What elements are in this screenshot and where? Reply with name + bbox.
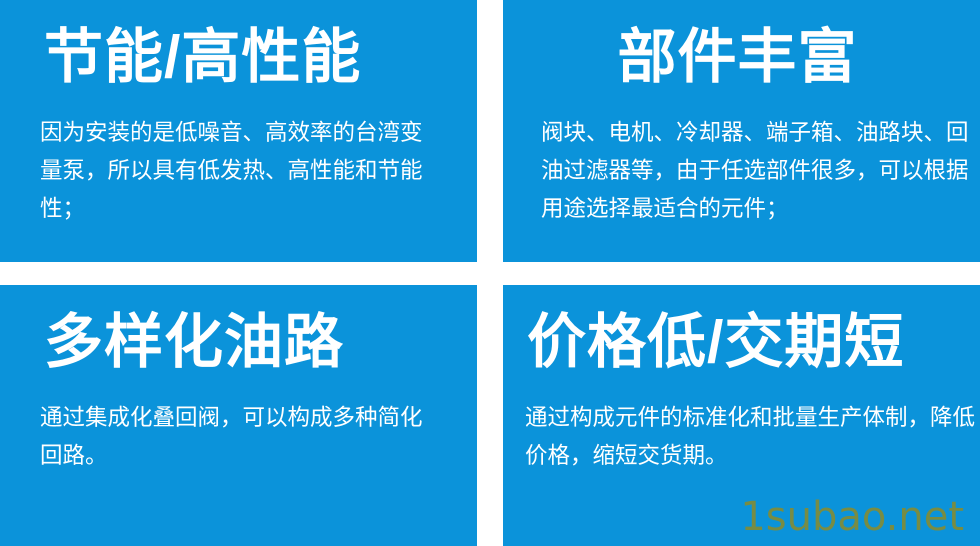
gutter-horizontal-right — [503, 262, 980, 285]
feature-panel-energy-saving-high-performance: 节能/高性能 因为安装的是低噪音、高效率的台湾变量泵，所以具有低发热、高性能和节… — [0, 0, 477, 262]
panel-heading: 多样化油路 — [44, 313, 344, 372]
panel-body-text: 通过构成元件的标准化和批量生产体制，降低价格，缩短交货期。 — [525, 399, 975, 475]
feature-panel-rich-components: 部件丰富 阀块、电机、冷却器、端子箱、油路块、回油过滤器等，由于任选部件很多，可… — [503, 0, 980, 262]
gutter-vertical-bottom — [477, 285, 503, 546]
gutter-vertical-top — [477, 0, 503, 262]
feature-grid: 节能/高性能 因为安装的是低噪音、高效率的台湾变量泵，所以具有低发热、高性能和节… — [0, 0, 980, 546]
panel-body-text: 因为安装的是低噪音、高效率的台湾变量泵，所以具有低发热、高性能和节能性； — [40, 114, 440, 228]
panel-heading: 部件丰富 — [503, 28, 980, 87]
feature-panel-low-price-short-lead-time: 价格低/交期短 通过构成元件的标准化和批量生产体制，降低价格，缩短交货期。 — [503, 285, 980, 546]
panel-body-text: 阀块、电机、冷却器、端子箱、油路块、回油过滤器等，由于任选部件很多，可以根据用途… — [541, 114, 977, 228]
feature-panel-diversified-oil-circuit: 多样化油路 通过集成化叠回阀，可以构成多种简化回路。 — [0, 285, 477, 546]
gutter-cross-center — [477, 262, 503, 285]
poster-root: 节能/高性能 因为安装的是低噪音、高效率的台湾变量泵，所以具有低发热、高性能和节… — [0, 0, 980, 546]
panel-heading: 价格低/交期短 — [527, 313, 904, 372]
panel-body-text: 通过集成化叠回阀，可以构成多种简化回路。 — [40, 399, 440, 475]
panel-heading: 节能/高性能 — [44, 28, 361, 87]
gutter-horizontal-left — [0, 262, 477, 285]
